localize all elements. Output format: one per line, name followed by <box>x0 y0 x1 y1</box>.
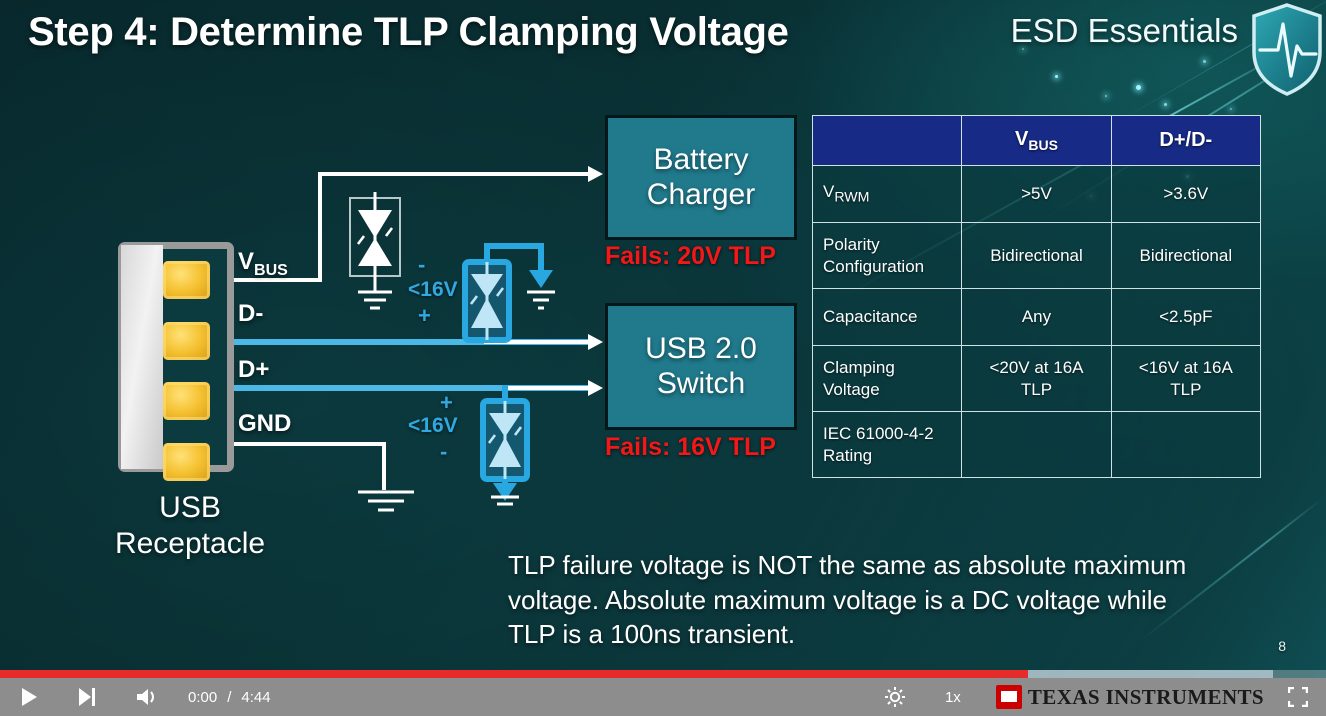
page-title: Step 4: Determine TLP Clamping Voltage <box>28 10 789 55</box>
row-header-vrwm-sub: RWM <box>834 189 869 205</box>
row-header-clamping: Clamping Voltage <box>813 346 962 412</box>
slide-canvas: Step 4: Determine TLP Clamping Voltage E… <box>0 0 1326 716</box>
background-particle <box>1105 95 1107 97</box>
arrow-dplus-to-switch <box>588 380 603 396</box>
table-col-vbus-text: V <box>1015 128 1028 150</box>
cell-iec-vbus <box>962 412 1111 478</box>
net-label-vbus: VBUS <box>238 248 288 280</box>
row-header-polarity: Polarity Configuration <box>813 223 962 289</box>
usb-pin-dplus <box>163 382 210 420</box>
tvs-vbus-symbol <box>344 192 406 327</box>
wire-gnd <box>382 442 386 490</box>
player-button-bar: 0:00 / 4:44 1x TEXAS INSTRUMENTS <box>0 678 1326 716</box>
tvs-dminus-bottom-sign: + <box>418 303 431 329</box>
table-header-row: VBUS D+/D- <box>813 116 1261 166</box>
cell-clamping-vbus: <20V at 16A TLP <box>962 346 1111 412</box>
net-label-gnd: GND <box>238 410 291 438</box>
background-particle <box>1203 60 1206 63</box>
background-particle <box>1136 85 1141 90</box>
shield-pulse-icon <box>1250 2 1324 98</box>
tvs-dplus-rating: <16V <box>408 414 458 438</box>
slide-note: TLP failure voltage is NOT the same as a… <box>508 548 1208 652</box>
gear-icon[interactable] <box>866 678 924 716</box>
duration-label: 4:44 <box>241 689 270 706</box>
cell-polarity-vbus: Bidirectional <box>962 223 1111 289</box>
cell-clamping-ddata: <16V at 16A TLP <box>1111 346 1260 412</box>
brand-label: ESD Essentials <box>1011 12 1238 50</box>
row-header-vrwm-text: V <box>823 182 834 201</box>
ti-mark-icon <box>996 685 1022 709</box>
table-row: VRWM >5V >3.6V <box>813 166 1261 223</box>
usb-caption-line1: USB <box>100 490 280 526</box>
playback-speed-button[interactable]: 1x <box>924 678 982 716</box>
fail-note-battery-charger: Fails: 20V TLP <box>605 242 776 271</box>
block-usb-switch: USB 2.0 Switch <box>605 303 797 430</box>
table-col-vbus: VBUS <box>962 116 1111 166</box>
block-usb-switch-line2: Switch <box>645 367 757 402</box>
cell-polarity-ddata: Bidirectional <box>1111 223 1260 289</box>
table-col-blank <box>813 116 962 166</box>
table-head: VBUS D+/D- <box>813 116 1261 166</box>
arrow-dminus-to-switch <box>588 334 603 350</box>
usb-receptacle-shell <box>121 245 163 469</box>
arrow-vbus-to-charger <box>588 166 603 182</box>
block-battery-charger: Battery Charger <box>605 115 797 240</box>
net-label-dplus: D+ <box>238 356 269 384</box>
ti-name-label: TEXAS INSTRUMENTS <box>1028 685 1264 710</box>
tvs-dminus-symbol <box>455 240 575 355</box>
circuit-diagram: - <16V + + <16V - <box>0 100 820 580</box>
background-particle <box>1230 108 1232 110</box>
slide-number: 8 <box>1278 638 1286 654</box>
usb-pin-vbus <box>163 261 210 299</box>
cell-capacitance-ddata: <2.5pF <box>1111 289 1260 346</box>
block-battery-charger-line2: Charger <box>647 178 755 213</box>
tvs-dplus-symbol <box>478 385 558 515</box>
row-header-capacitance: Capacitance <box>813 289 962 346</box>
row-header-vrwm: VRWM <box>813 166 962 223</box>
tvs-dplus-bottom-sign: - <box>440 439 447 465</box>
video-player-controls: 0:00 / 4:44 1x TEXAS INSTRUMENTS <box>0 670 1326 716</box>
requirements-table: VBUS D+/D- VRWM >5V >3.6V Polarity Confi… <box>812 115 1261 478</box>
table-col-ddata: D+/D- <box>1111 116 1260 166</box>
volume-icon[interactable] <box>116 678 178 716</box>
background-particle <box>1055 75 1058 78</box>
tvs-dminus-rating: <16V <box>408 278 458 302</box>
block-usb-switch-line1: USB 2.0 <box>645 332 757 367</box>
net-label-vbus-text: V <box>238 248 254 275</box>
progress-bar-track[interactable] <box>0 670 1326 678</box>
texas-instruments-logo: TEXAS INSTRUMENTS <box>996 685 1264 710</box>
fullscreen-icon[interactable] <box>1270 678 1326 716</box>
usb-receptacle-caption: USB Receptacle <box>100 490 280 562</box>
fail-note-usb-switch: Fails: 16V TLP <box>605 433 776 462</box>
usb-pin-dminus <box>163 322 210 360</box>
cell-vrwm-vbus: >5V <box>962 166 1111 223</box>
time-separator: / <box>227 689 231 706</box>
net-label-dminus: D- <box>238 300 263 328</box>
next-track-icon[interactable] <box>58 678 116 716</box>
usb-pin-gnd <box>163 443 210 481</box>
cell-capacitance-vbus: Any <box>962 289 1111 346</box>
table-body: VRWM >5V >3.6V Polarity Configuration Bi… <box>813 166 1261 478</box>
table-col-vbus-sub: BUS <box>1028 137 1058 153</box>
tvs-dminus-top-sign: - <box>418 252 425 278</box>
block-battery-charger-line1: Battery <box>647 143 755 178</box>
tvs-dplus-top-sign: + <box>440 390 453 416</box>
progress-bar-played <box>0 670 1028 678</box>
table-row: Clamping Voltage <20V at 16A TLP <16V at… <box>813 346 1261 412</box>
ground-symbol-gnd <box>356 488 416 523</box>
play-icon[interactable] <box>0 678 58 716</box>
net-label-vbus-sub: BUS <box>254 262 288 279</box>
wire-gnd <box>210 442 386 446</box>
cell-vrwm-ddata: >3.6V <box>1111 166 1260 223</box>
wire-vbus <box>318 172 590 176</box>
table-row: Polarity Configuration Bidirectional Bid… <box>813 223 1261 289</box>
wire-vbus <box>318 172 322 282</box>
table-row: Capacitance Any <2.5pF <box>813 289 1261 346</box>
table-row: IEC 61000-4-2 Rating <box>813 412 1261 478</box>
cell-iec-ddata <box>1111 412 1260 478</box>
current-time-label: 0:00 <box>188 689 217 706</box>
row-header-iec: IEC 61000-4-2 Rating <box>813 412 962 478</box>
usb-caption-line2: Receptacle <box>100 526 280 562</box>
background-particle <box>1164 103 1167 106</box>
